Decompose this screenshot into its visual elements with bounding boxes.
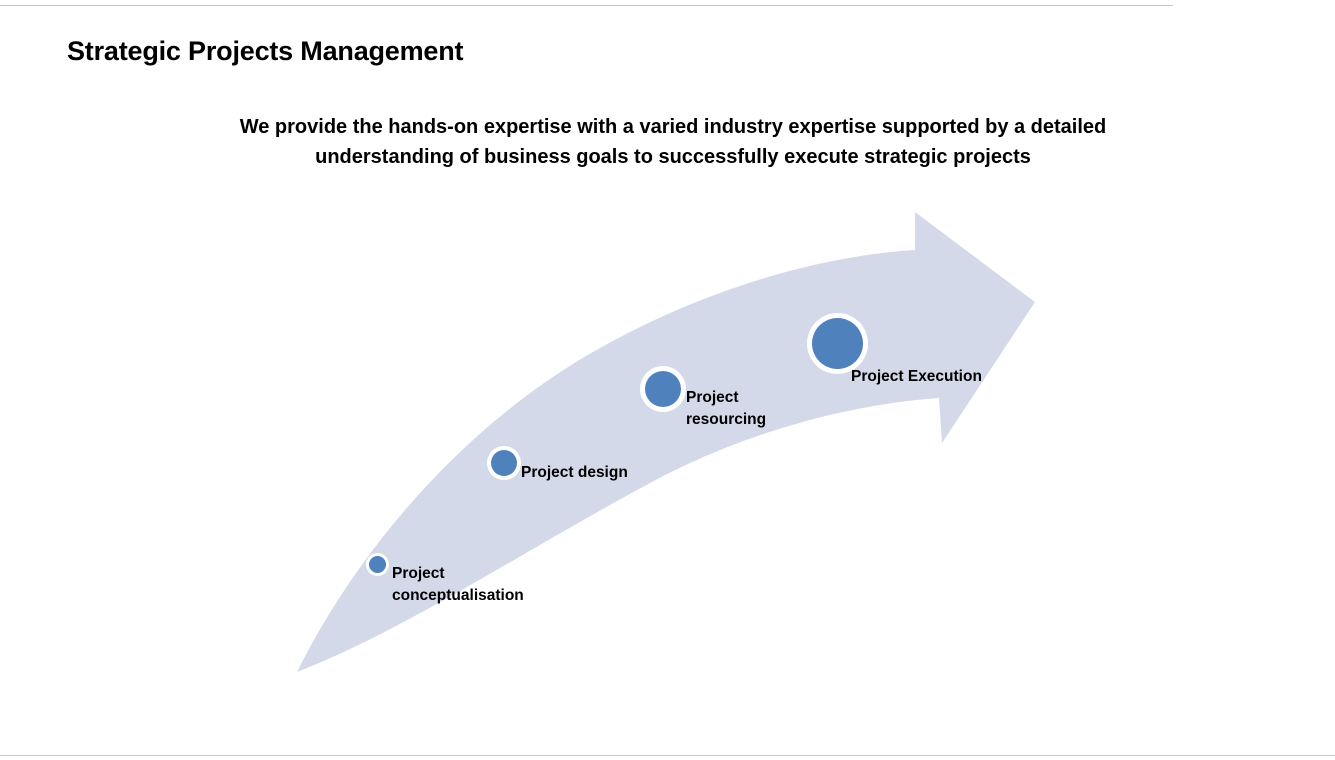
stage-label-project-design: Project design xyxy=(521,462,628,484)
node-marker-stage-1[interactable] xyxy=(369,556,386,573)
stage-label-project-conceptualisation: Project conceptualisation xyxy=(392,563,524,607)
node-marker-stage-4[interactable] xyxy=(812,318,863,369)
node-marker-stage-2[interactable] xyxy=(491,450,517,476)
slide-canvas: Strategic Projects Management We provide… xyxy=(0,0,1335,760)
node-marker-stage-3[interactable] xyxy=(645,371,681,407)
stage-label-project-execution: Project Execution xyxy=(851,366,982,388)
stage-label-project-resourcing: Project resourcing xyxy=(686,387,766,431)
